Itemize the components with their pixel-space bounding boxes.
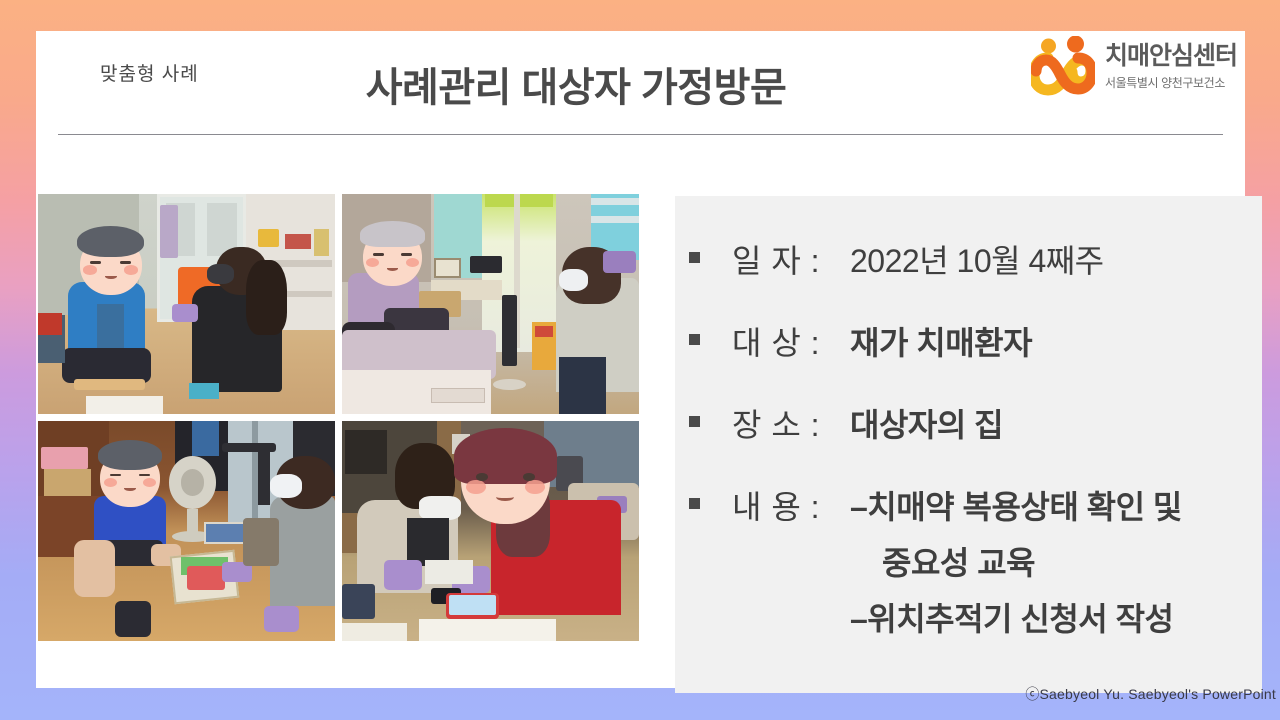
cartoon-face-sticker-grandpa-2 bbox=[100, 450, 159, 507]
detail-label-target: 대 상 : bbox=[732, 318, 850, 364]
detail-label-contents: 내 용 : bbox=[732, 482, 850, 528]
detail-row-target: 대 상 : 재가 치매환자 bbox=[689, 318, 1248, 364]
eyebrow-label: 맞춤형 사례 bbox=[100, 59, 199, 86]
photo-home-visit-gps-tracker-application bbox=[342, 421, 639, 641]
logo-text-block: 치매안심센터 서울특별시 양천구보건소 bbox=[1105, 43, 1237, 91]
slide-canvas: 맞춤형 사례 사례관리 대상자 가정방문 치매안심센터 서울특별시 양천구보건소 bbox=[0, 0, 1280, 720]
photo-home-visit-elderly-woman-bed bbox=[342, 194, 639, 414]
detail-row-date: 일 자 : 2022년 10월 4째주 bbox=[689, 236, 1248, 282]
title-divider bbox=[58, 134, 1223, 135]
slide-white-card: 맞춤형 사례 사례관리 대상자 가정방문 치매안심센터 서울특별시 양천구보건소 bbox=[36, 31, 1245, 688]
square-bullet-icon bbox=[689, 334, 700, 345]
detail-value-contents-line2: 중요성 교육 bbox=[732, 538, 1248, 584]
detail-panel: 일 자 : 2022년 10월 4째주 대 상 : 재가 치매환자 bbox=[675, 196, 1262, 693]
logo-subtitle: 서울특별시 양천구보건소 bbox=[1105, 74, 1225, 91]
detail-row-body: 대 상 : 재가 치매환자 bbox=[732, 318, 1248, 364]
footer-credit: ⓒSaebyeol Yu. Saebyeol's PowerPoint bbox=[1025, 684, 1276, 704]
logo-title: 치매안심센터 bbox=[1105, 43, 1237, 71]
square-bullet-icon bbox=[689, 498, 700, 509]
detail-value-target: 재가 치매환자 bbox=[850, 318, 1032, 364]
detail-label-place: 장 소 : bbox=[732, 400, 850, 446]
cartoon-face-sticker-woman bbox=[461, 436, 550, 524]
detail-value-contents-line3: –위치추적기 신청서 작성 bbox=[732, 594, 1248, 640]
detail-label-date: 일 자 : bbox=[732, 236, 850, 282]
photo-grid bbox=[38, 194, 642, 642]
detail-value-date: 2022년 10월 4째주 bbox=[850, 236, 1104, 282]
page-title: 사례관리 대상자 가정방문 bbox=[256, 55, 896, 113]
detail-row-contents: 내 용 : –치매약 복용상태 확인 및 중요성 교육 –위치추적기 신청서 작… bbox=[689, 482, 1248, 640]
organization-logo: 치매안심센터 서울특별시 양천구보건소 bbox=[1031, 36, 1237, 98]
detail-row-body: 내 용 : –치매약 복용상태 확인 및 중요성 교육 –위치추적기 신청서 작… bbox=[732, 482, 1248, 640]
detail-value-contents: –치매약 복용상태 확인 및 bbox=[850, 482, 1182, 528]
photo-home-visit-cognitive-materials bbox=[38, 421, 335, 641]
cartoon-face-sticker-grandma bbox=[363, 229, 422, 286]
square-bullet-icon bbox=[689, 252, 700, 263]
detail-row-body: 일 자 : 2022년 10월 4째주 bbox=[732, 236, 1248, 282]
square-bullet-icon bbox=[689, 416, 700, 427]
detail-row-body: 장 소 : 대상자의 집 bbox=[732, 400, 1248, 446]
detail-row-place: 장 소 : 대상자의 집 bbox=[689, 400, 1248, 446]
cartoon-face-sticker-grandpa bbox=[80, 236, 142, 295]
photo-home-visit-elderly-man-blue-sweater bbox=[38, 194, 335, 414]
intertwined-people-logo-icon bbox=[1031, 36, 1095, 98]
detail-value-place: 대상자의 집 bbox=[850, 400, 1003, 446]
